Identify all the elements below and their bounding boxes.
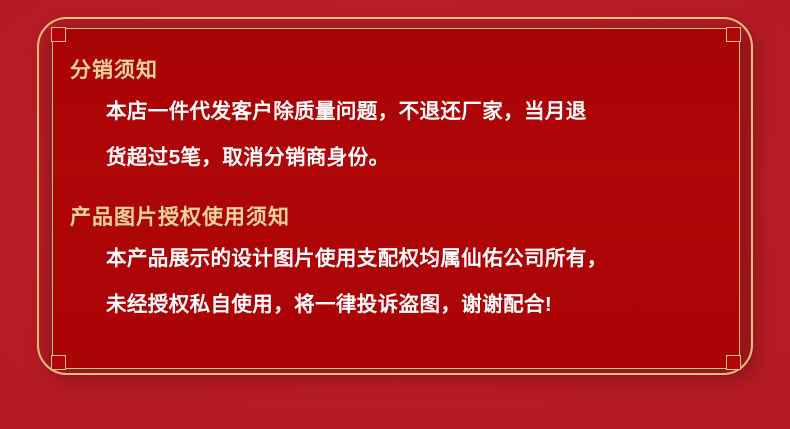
bottom-gradient-band [0,381,790,429]
notice-content: 分销须知 本店一件代发客户除质量问题，不退还厂家，当月退 货超过5笔，取消分销商… [52,28,740,369]
body-line: 本产品展示的设计图片使用支配权均属仙佑公司所有， [106,236,706,282]
section-body-distribution: 本店一件代发客户除质量问题，不退还厂家，当月退 货超过5笔，取消分销商身份。 [70,89,706,181]
body-line: 未经授权私自使用，将一律投诉盗图，谢谢配合! [106,282,706,328]
section-body-image-authorization: 本产品展示的设计图片使用支配权均属仙佑公司所有， 未经授权私自使用，将一律投诉盗… [70,236,706,328]
body-line: 货超过5笔，取消分销商身份。 [106,135,706,181]
notice-banner: 分销须知 本店一件代发客户除质量问题，不退还厂家，当月退 货超过5笔，取消分销商… [0,0,790,429]
section-heading-distribution: 分销须知 [70,58,706,83]
inner-panel-wrapper: 分销须知 本店一件代发客户除质量问题，不退还厂家，当月退 货超过5笔，取消分销商… [52,28,740,369]
body-line: 本店一件代发客户除质量问题，不退还厂家，当月退 [106,89,706,135]
section-heading-image-authorization: 产品图片授权使用须知 [70,205,706,230]
